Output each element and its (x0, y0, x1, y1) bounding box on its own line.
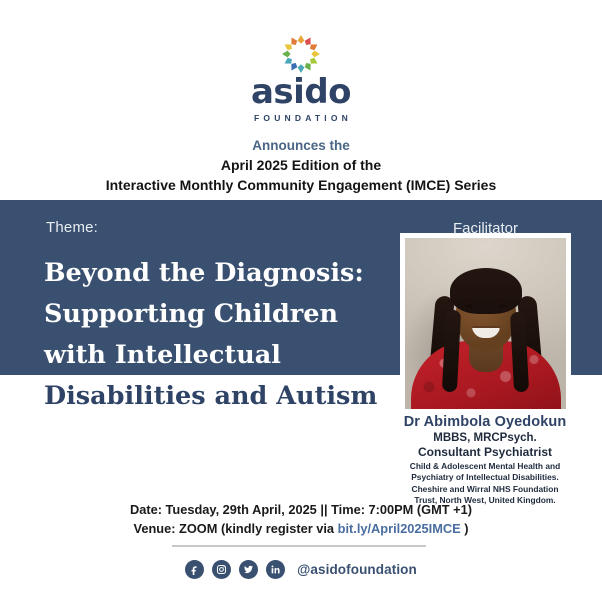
event-date-time: Date: Tuesday, 29th April, 2025 || Time:… (0, 500, 602, 519)
linkedin-icon[interactable] (266, 560, 285, 579)
theme-title-line-4: Disabilities and Autism (44, 376, 404, 417)
facilitator-affiliation-line-2: Psychiatry of Intellectual Disabilities. (372, 472, 598, 483)
facilitator-affiliation-line-1: Child & Adolescent Mental Health and (372, 461, 598, 472)
photo-eye-right (497, 304, 506, 308)
footer-divider (172, 545, 426, 547)
logo-ring-svg (273, 34, 329, 74)
photo-eye-left (465, 304, 474, 308)
asido-circle-logo (273, 34, 329, 74)
theme-title-line-1: Beyond the Diagnosis: (44, 253, 404, 294)
logo-wordmark: asido (251, 75, 351, 109)
event-details: Date: Tuesday, 29th April, 2025 || Time:… (0, 500, 602, 538)
logo-tagline: FOUNDATION (250, 113, 352, 123)
photo-brow-right (496, 298, 508, 301)
facilitator-affiliation-line-3: Cheshire and Wirral NHS Foundation (372, 484, 598, 495)
theme-title: Beyond the Diagnosis: Supporting Childre… (44, 253, 404, 417)
venue-suffix: ) (461, 521, 469, 536)
social-footer: @asidofoundation (0, 560, 602, 579)
photo-brow-left (463, 298, 475, 301)
announce-line-2: April 2025 Edition of the (0, 155, 602, 175)
event-flyer: asido FOUNDATION Announces the April 202… (0, 0, 602, 600)
facilitator-photo (405, 238, 566, 409)
theme-title-line-2: Supporting Children (44, 294, 404, 335)
twitter-icon[interactable] (239, 560, 258, 579)
venue-prefix: Venue: ZOOM (kindly register via (134, 521, 338, 536)
brand-logo: asido FOUNDATION (0, 34, 602, 123)
theme-title-line-3: with Intellectual (44, 335, 404, 376)
announce-line-3: Interactive Monthly Community Engagement… (0, 175, 602, 195)
facilitator-photo-frame (400, 233, 571, 414)
announce-line-1: Announces the (0, 136, 602, 155)
facilitator-qualifications: MBBS, MRCPsych. (372, 431, 598, 445)
photo-hair (450, 268, 522, 314)
instagram-icon[interactable] (212, 560, 231, 579)
facilitator-name: Dr Abimbola Oyedokun (372, 414, 598, 431)
facilitator-role: Consultant Psychiatrist (372, 445, 598, 460)
announcement-block: Announces the April 2025 Edition of the … (0, 136, 602, 195)
facilitator-credentials: Dr Abimbola Oyedokun MBBS, MRCPsych. Con… (372, 414, 598, 506)
facebook-icon[interactable] (185, 560, 204, 579)
theme-label: Theme: (46, 219, 98, 236)
registration-link[interactable]: bit.ly/April2025IMCE (338, 521, 461, 536)
event-venue: Venue: ZOOM (kindly register via bit.ly/… (0, 519, 602, 538)
social-handle: @asidofoundation (297, 562, 417, 577)
